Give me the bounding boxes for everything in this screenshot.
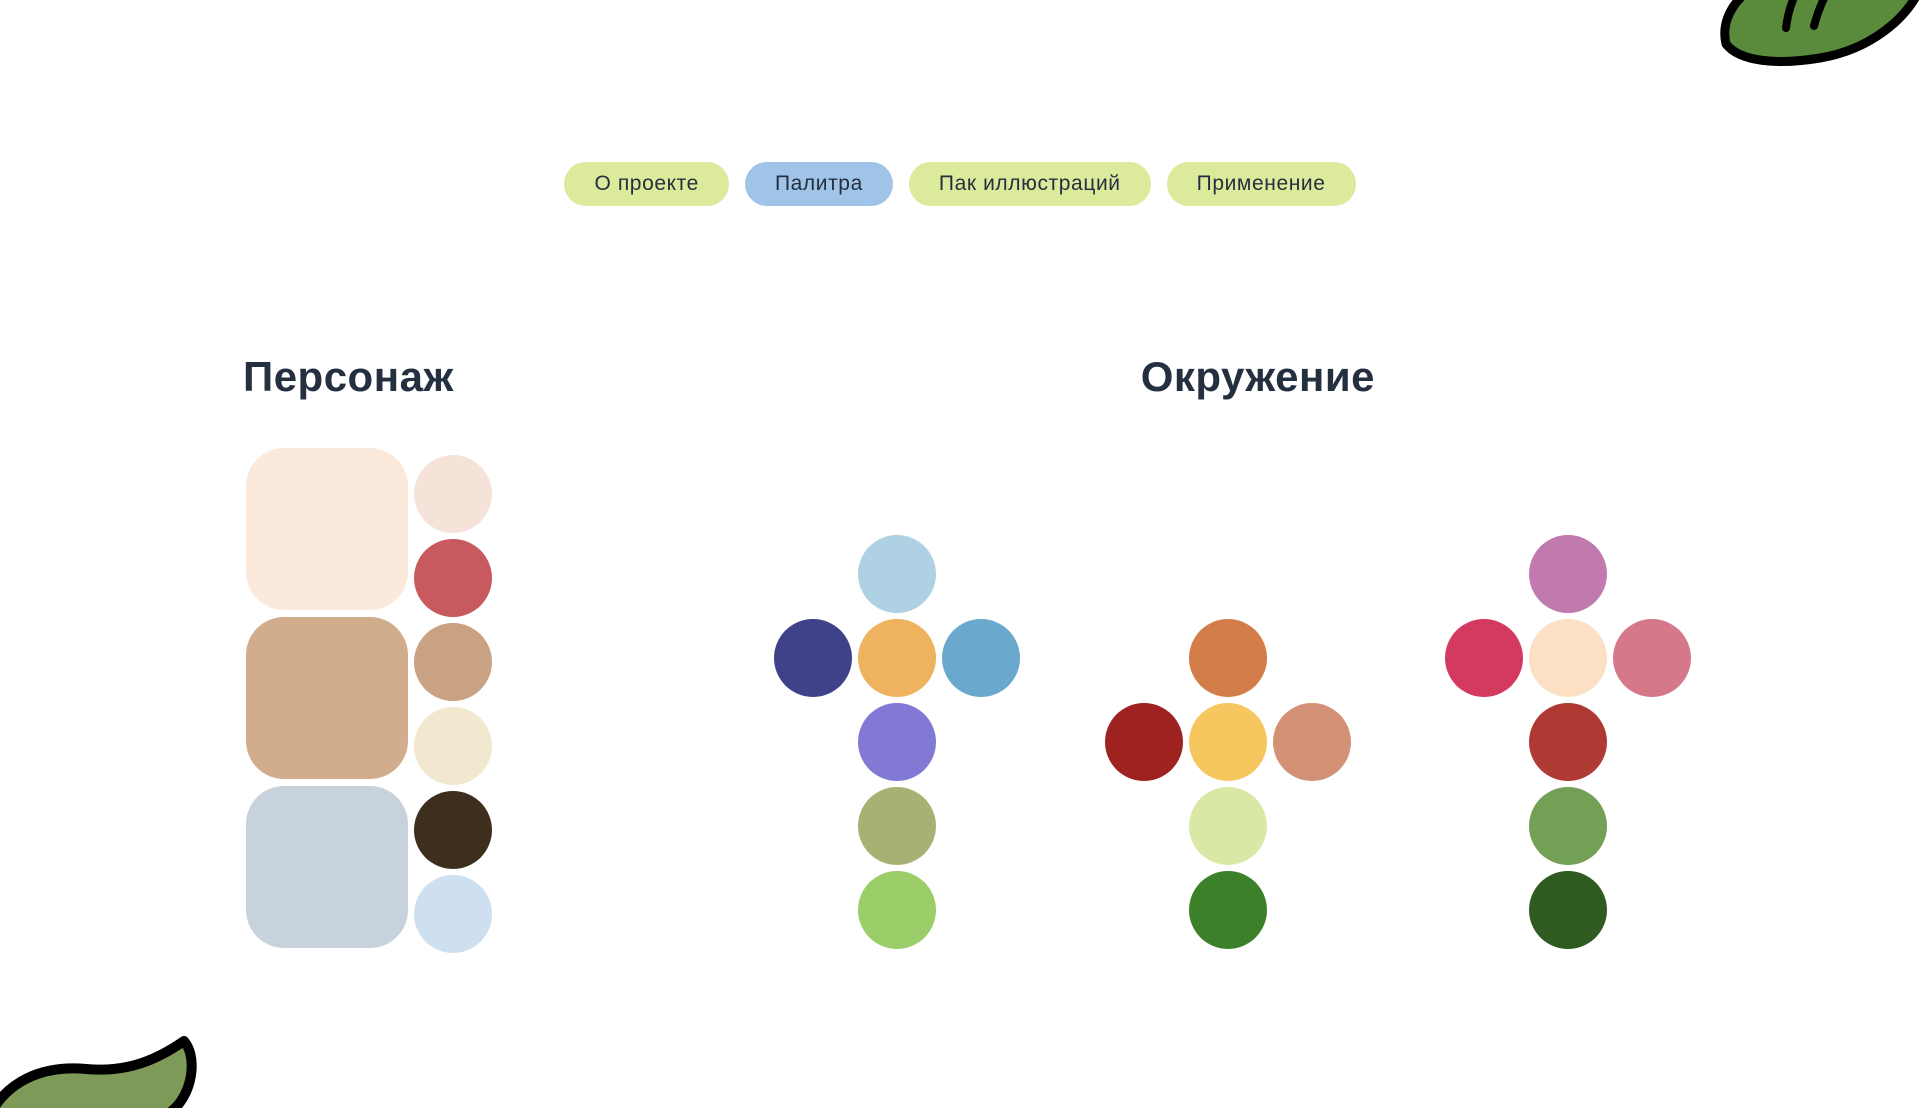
palette-canvas xyxy=(0,0,1920,1108)
swatch-circle-crimson[interactable] xyxy=(1445,619,1523,697)
swatch-circle-apricot[interactable] xyxy=(1529,619,1607,697)
swatch-circle-sage-green[interactable] xyxy=(1529,787,1607,865)
palette-page: О проекте Палитра Пак иллюстраций Примен… xyxy=(0,0,1920,1108)
swatch-circle-dark-green[interactable] xyxy=(1529,871,1607,949)
swatch-circle-barn-red[interactable] xyxy=(1529,703,1607,781)
swatch-circle-dusty-rose[interactable] xyxy=(1613,619,1691,697)
swatch-circle-orchid[interactable] xyxy=(1529,535,1607,613)
environment-cool-group xyxy=(0,0,1920,1108)
